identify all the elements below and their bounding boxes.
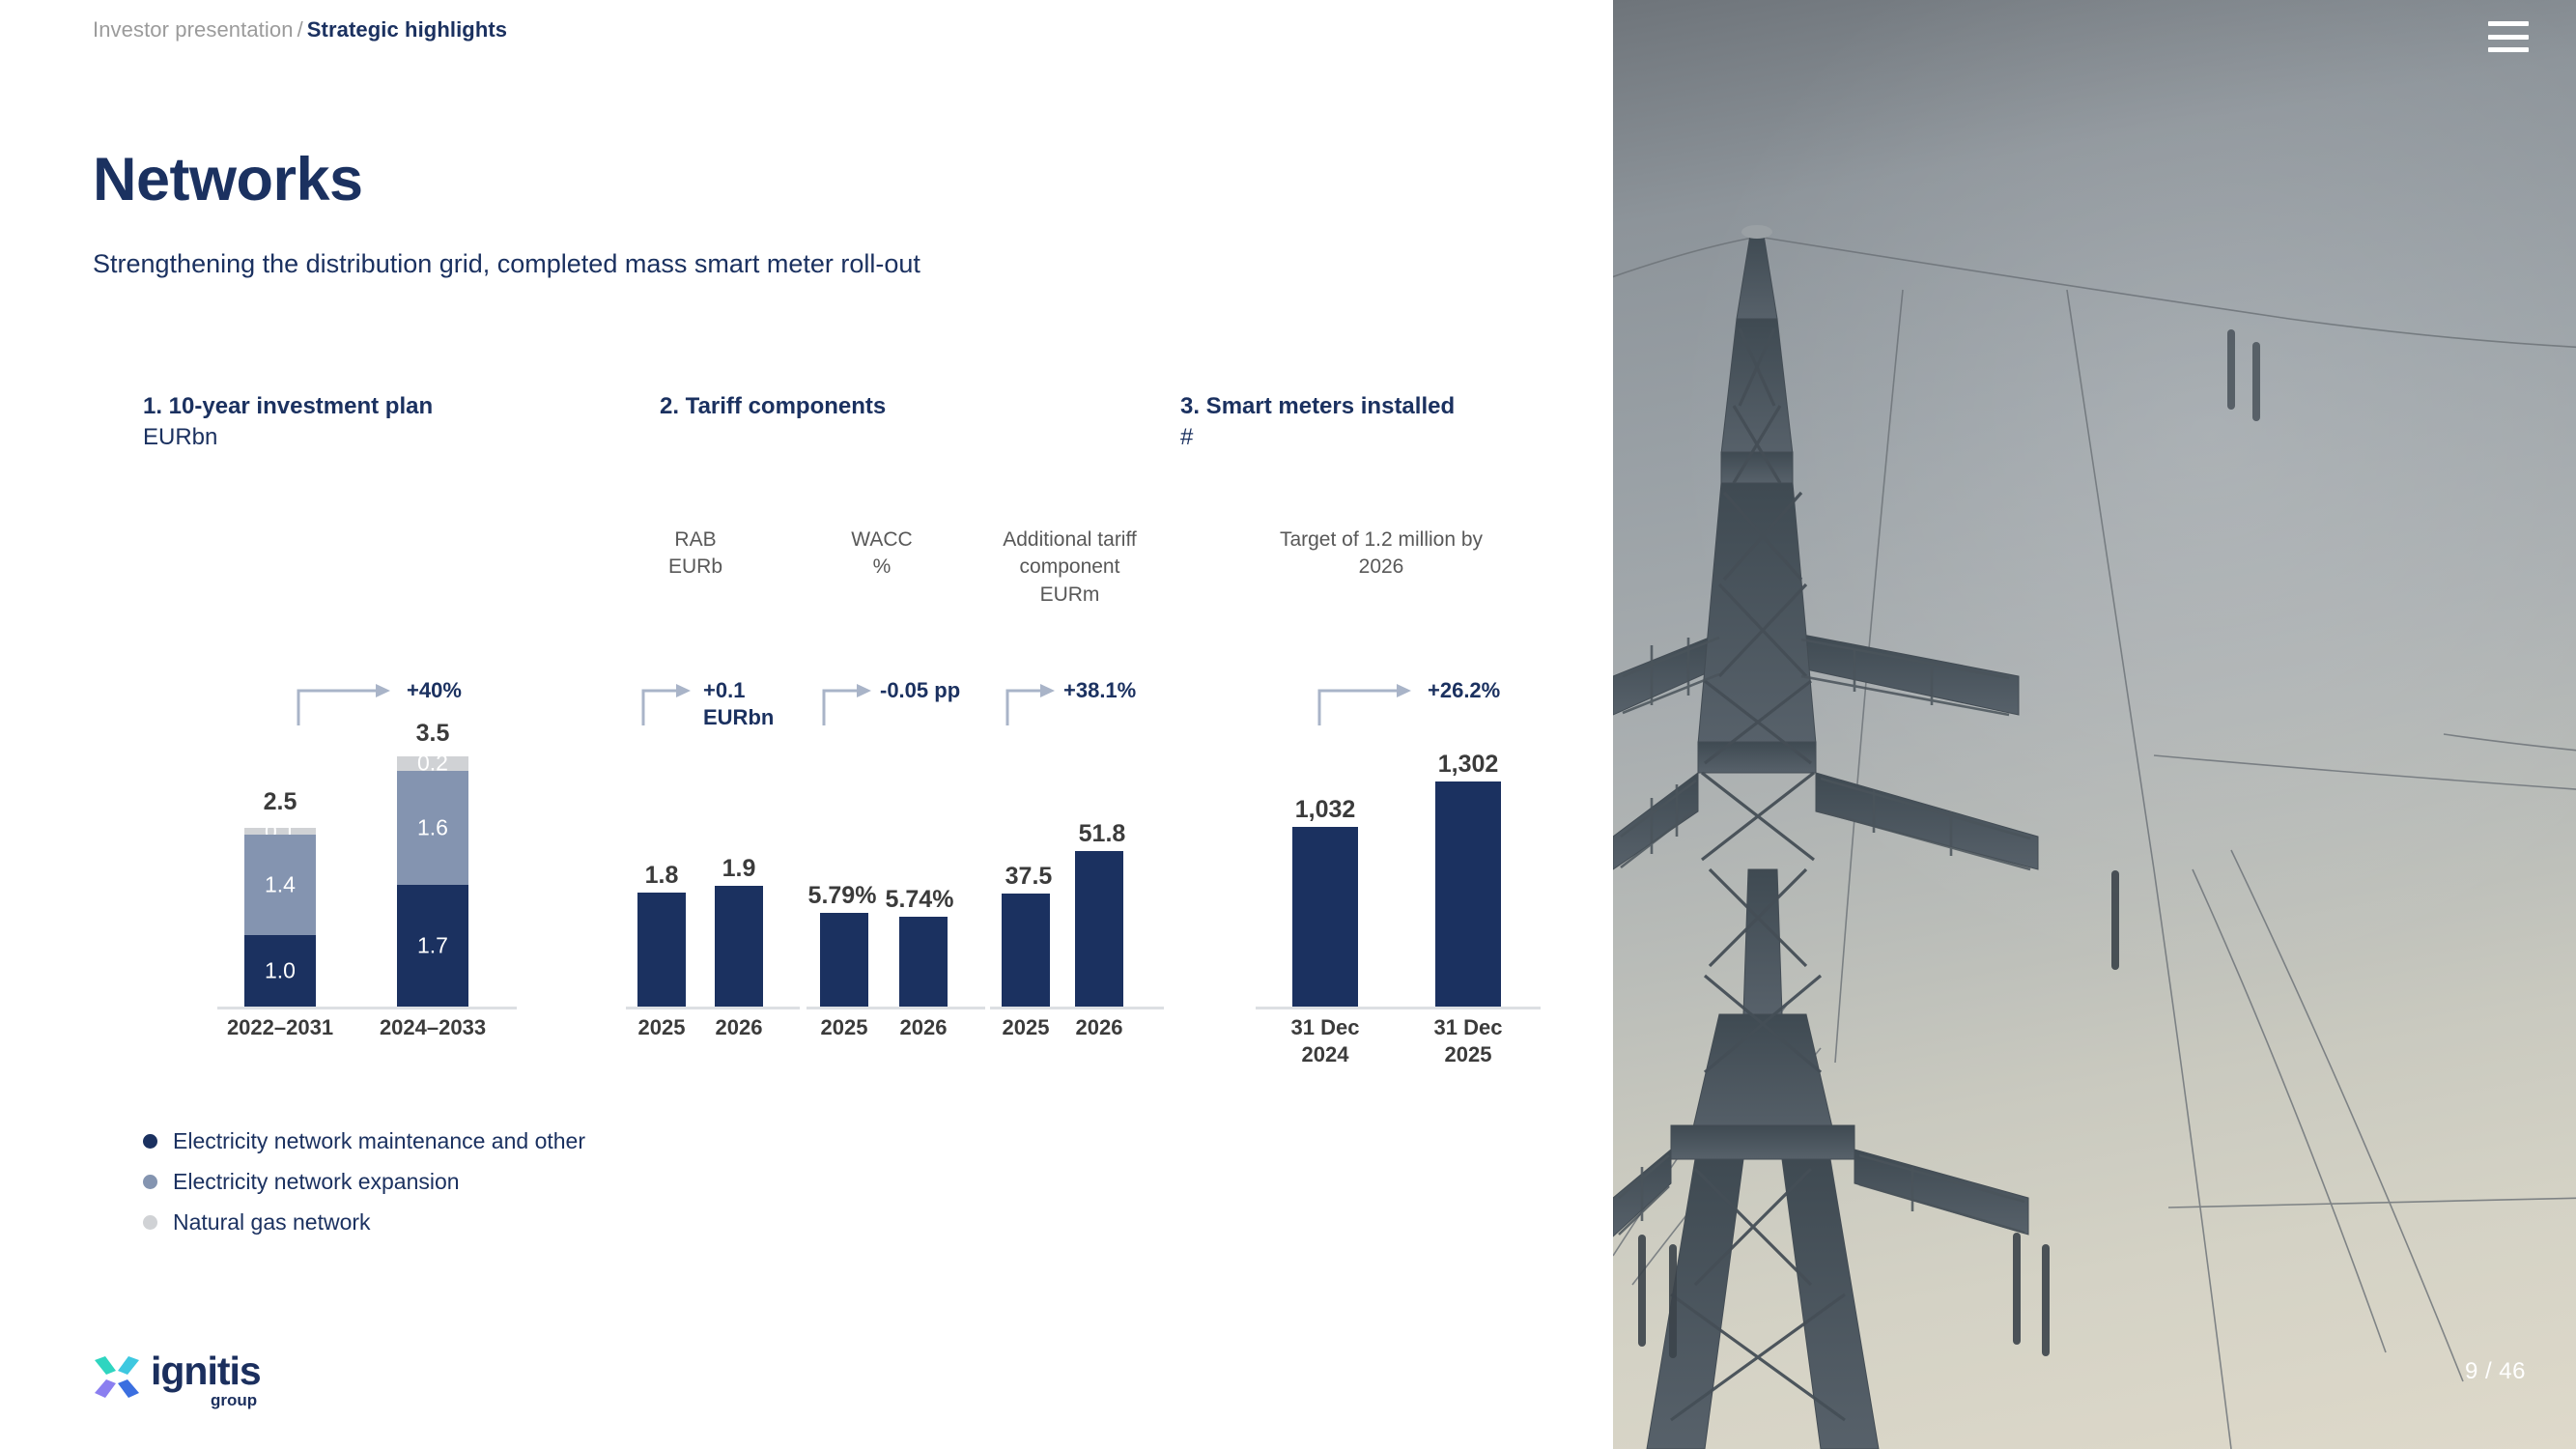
col-subtitle-line: Target of 1.2 million by: [1236, 526, 1526, 554]
menu-bar: [2488, 35, 2529, 40]
chart-additional-tariff-component: +38.1% 37.5 51.8 2025 2026: [990, 681, 1174, 1009]
col-subtitle-line: WACC: [809, 526, 954, 554]
bar-segment-maintenance: 1.0: [244, 935, 316, 1007]
slide-root: Investor presentation/Strategic highligh…: [0, 0, 2576, 1449]
col-subtitle-line: component: [966, 554, 1174, 581]
block-heading-unit: #: [1180, 422, 1586, 453]
legend-label: Natural gas network: [173, 1209, 371, 1236]
category-label-line: 31 Dec: [1258, 1014, 1393, 1041]
col-subtitle-line: 2026: [1236, 554, 1526, 581]
page-title: Networks: [93, 145, 363, 214]
category-label: 2026: [691, 1014, 787, 1041]
delta-label-investment: +40%: [407, 677, 462, 704]
legend-swatch-icon: [143, 1175, 157, 1189]
category-label-line: 2024: [1258, 1041, 1393, 1068]
ignitis-group-logo: ignitis group: [93, 1349, 271, 1416]
legend-label: Electricity network expansion: [173, 1169, 460, 1195]
bar-rab-2026: [715, 886, 763, 1007]
legend-swatch-icon: [143, 1215, 157, 1230]
block-heading-unit: EURbn: [143, 422, 558, 453]
breadcrumb: Investor presentation/Strategic highligh…: [93, 17, 507, 43]
bar-value-label: 1,032: [1262, 796, 1388, 824]
delta-label-tariff: +38.1%: [1063, 677, 1136, 704]
category-label: 31 Dec 2025: [1401, 1014, 1536, 1067]
bar-value-label: 1.9: [695, 855, 782, 883]
bar-meters-31-dec-2024: [1292, 827, 1358, 1007]
block-heading-tariff-components: 2. Tariff components: [660, 391, 1046, 422]
col-subtitle-line: Additional tariff: [966, 526, 1174, 554]
growth-arrow-icon: [1314, 681, 1420, 729]
col-subtitle-additional-tariff: Additional tariff component EURm: [966, 526, 1174, 609]
transmission-tower-illustration: [1613, 0, 2576, 1449]
bar-rab-2025: [637, 893, 686, 1007]
menu-bar: [2488, 47, 2529, 52]
chart-investment-plan: +40% 2.5 0.1 1.4 1.0 3.5: [217, 681, 517, 1009]
axis-line: [807, 1007, 985, 1009]
bar-wacc-2026: [899, 917, 948, 1007]
chart-smart-meters-installed: +26.2% 1,032 1,302 31 Dec 2024 31 Dec 20…: [1256, 681, 1560, 1009]
bar-value-label: 51.8: [1054, 820, 1150, 848]
ignitis-mark-icon: [93, 1354, 141, 1401]
bar-value-label: 1,302: [1405, 751, 1531, 779]
bar-total-label: 2.5: [227, 788, 333, 816]
delta-callout-meters: +26.2%: [1314, 681, 1565, 739]
content-panel: Investor presentation/Strategic highligh…: [0, 0, 1613, 1449]
category-label-line: 2025: [1401, 1041, 1536, 1068]
delta-label-rab: +0.1 EURbn: [703, 677, 774, 730]
growth-arrow-icon: [1002, 681, 1062, 729]
growth-arrow-icon: [818, 681, 878, 729]
block-heading-investment-plan: 1. 10-year investment plan EURbn: [143, 391, 558, 453]
bar-wacc-2025: [820, 913, 868, 1007]
logo-tagline: group: [211, 1391, 257, 1410]
page-indicator: 9 / 46: [2465, 1358, 2526, 1385]
breadcrumb-root[interactable]: Investor presentation: [93, 17, 294, 42]
category-label: 31 Dec 2024: [1258, 1014, 1393, 1067]
growth-arrow-icon: [637, 681, 697, 729]
axis-line: [990, 1007, 1164, 1009]
logo-wordmark: ignitis: [151, 1349, 261, 1394]
category-label: 2024–2033: [360, 1014, 505, 1041]
chart-rab: +0.1 EURbn 1.8 1.9 2025 2026: [626, 681, 800, 1009]
col-subtitle-smart-meters-target: Target of 1.2 million by 2026: [1236, 526, 1526, 582]
delta-callout-rab: +0.1 EURbn: [637, 681, 831, 749]
axis-line: [217, 1007, 517, 1009]
bar-value-label: 37.5: [980, 863, 1077, 891]
bar-segment-natural-gas: 0.1: [244, 828, 316, 835]
legend-item: Electricity network expansion: [143, 1161, 585, 1202]
col-subtitle-wacc: WACC %: [809, 526, 954, 582]
block-heading-text: 2. Tariff components: [660, 391, 1046, 422]
bar-value-label: 5.74%: [866, 886, 973, 914]
axis-line: [1256, 1007, 1541, 1009]
chart-wacc: -0.05 pp 5.79% 5.74% 2025 2026: [807, 681, 990, 1009]
category-label: 2026: [1051, 1014, 1147, 1041]
block-heading-text: 3. Smart meters installed: [1180, 391, 1586, 422]
bar-total-label: 3.5: [380, 720, 486, 748]
delta-label-line: EURbn: [703, 704, 774, 731]
charts-area: 1. 10-year investment plan EURbn 2. Tari…: [0, 391, 1613, 1106]
hamburger-menu-icon[interactable]: [2488, 21, 2529, 52]
col-subtitle-line: EURb: [623, 554, 768, 581]
col-subtitle-line: %: [809, 554, 954, 581]
category-label-line: 31 Dec: [1401, 1014, 1536, 1041]
col-subtitle-rab: RAB EURb: [623, 526, 768, 582]
block-heading-text: 1. 10-year investment plan: [143, 391, 558, 422]
legend-label: Electricity network maintenance and othe…: [173, 1128, 585, 1154]
block-heading-smart-meters: 3. Smart meters installed #: [1180, 391, 1586, 453]
bar-tariff-2026: [1075, 851, 1123, 1007]
stacked-bar-2022-2031: 0.1 1.4 1.0: [244, 828, 316, 1007]
axis-line: [626, 1007, 800, 1009]
legend-swatch-icon: [143, 1134, 157, 1149]
stacked-bar-2024-2033: 0.2 1.6 1.7: [397, 756, 468, 1007]
bar-segment-expansion: 1.4: [244, 835, 316, 935]
page-subtitle: Strengthening the distribution grid, com…: [93, 249, 920, 279]
legend-item: Electricity network maintenance and othe…: [143, 1121, 585, 1161]
col-subtitle-line: EURm: [966, 582, 1174, 609]
delta-label-wacc: -0.05 pp: [880, 677, 960, 704]
delta-label-meters: +26.2%: [1428, 677, 1500, 704]
delta-callout-tariff: +38.1%: [1002, 681, 1214, 739]
bar-meters-31-dec-2025: [1435, 781, 1501, 1007]
delta-label-line: +0.1: [703, 677, 774, 704]
breadcrumb-separator: /: [297, 17, 303, 42]
legend-item: Natural gas network: [143, 1202, 585, 1242]
breadcrumb-current: Strategic highlights: [307, 17, 507, 42]
category-label: 2022–2031: [208, 1014, 353, 1041]
bar-segment-expansion: 1.6: [397, 771, 468, 885]
col-subtitle-line: RAB: [623, 526, 768, 554]
bar-tariff-2025: [1002, 894, 1050, 1007]
menu-bar: [2488, 21, 2529, 26]
bar-segment-maintenance: 1.7: [397, 885, 468, 1007]
hero-photo-transmission-tower: 9 / 46: [1613, 0, 2576, 1449]
chart-legend: Electricity network maintenance and othe…: [143, 1121, 585, 1242]
category-label: 2026: [875, 1014, 972, 1041]
bar-value-label: 1.8: [618, 862, 705, 890]
bar-segment-natural-gas: 0.2: [397, 756, 468, 771]
